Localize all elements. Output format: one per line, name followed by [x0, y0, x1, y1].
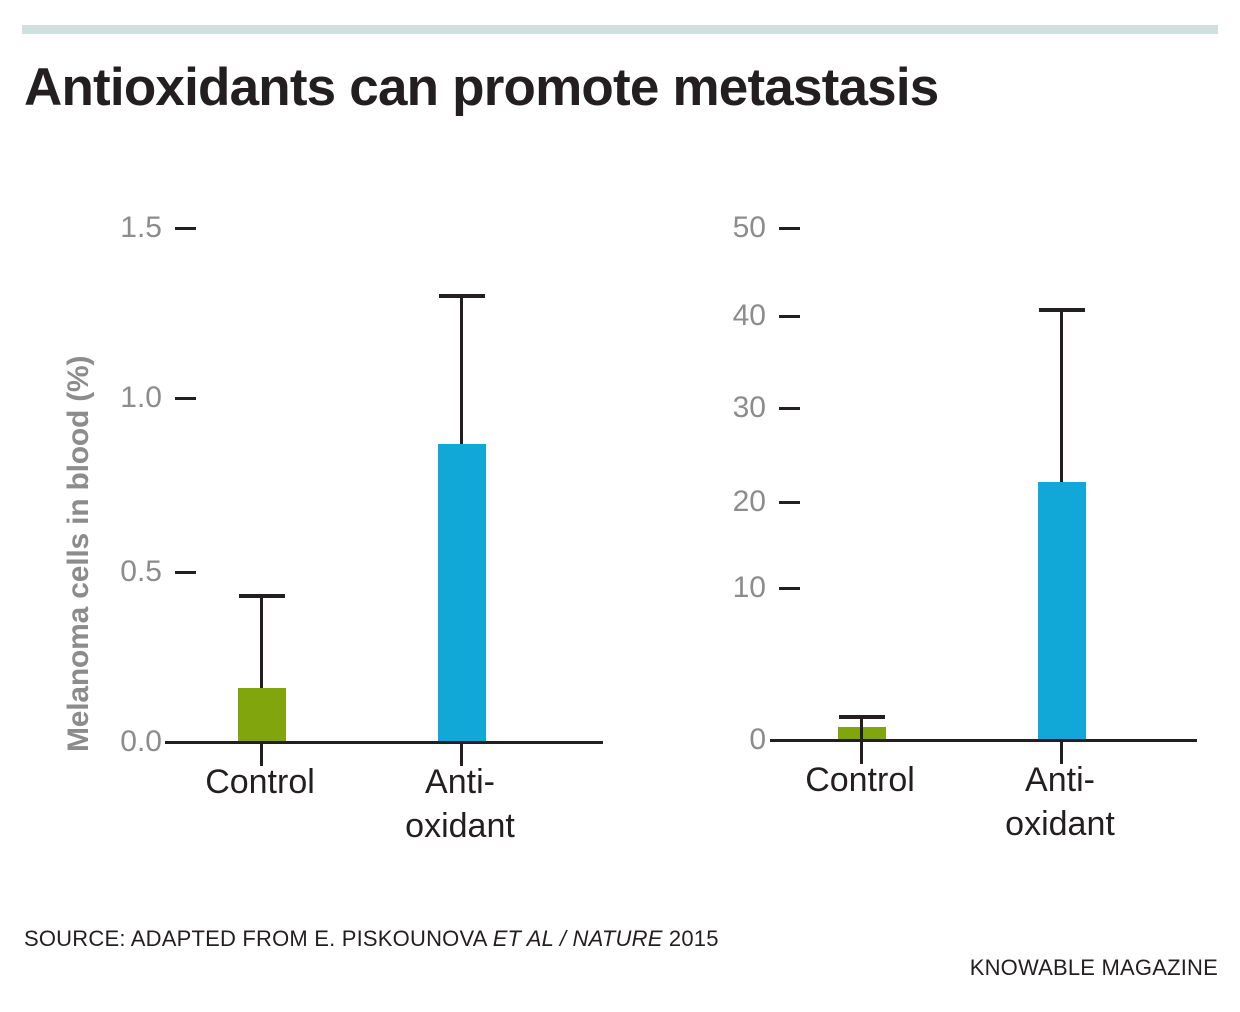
source-et-al: ET AL /	[493, 926, 567, 951]
y-tick-right-40: 40	[690, 296, 800, 336]
y-tick-right-40-dash	[779, 315, 800, 318]
y-tick-right-10: 10	[690, 568, 800, 608]
chart-area: Melanoma cells in blood (%) 1.5 1.0 0.5 …	[0, 0, 1240, 1012]
source-prefix: SOURCE: ADAPTED FROM E. PISKOUNOVA	[24, 926, 493, 951]
x-axis-line-left	[165, 741, 603, 744]
bar-right-antioxidant	[1038, 482, 1086, 739]
y-tick-right-50-label: 50	[733, 211, 766, 245]
y-tick-right-50: 50	[690, 208, 800, 248]
error-bar-right-control-cap	[839, 715, 885, 719]
y-tick-right-20-label: 20	[733, 485, 766, 519]
source-journal: NATURE	[573, 926, 663, 951]
y-tick-left-1_0-dash	[175, 397, 196, 400]
y-tick-right-30-dash	[779, 407, 800, 410]
y-tick-right-40-label: 40	[733, 299, 766, 333]
x-label-left-control: Control	[180, 761, 340, 805]
x-label-left-antioxidant-line2: oxidant	[380, 805, 540, 849]
x-label-left-antioxidant: Anti- oxidant	[380, 761, 540, 848]
y-tick-left-0_5: 0.5	[86, 552, 196, 592]
chart-panel-left: Melanoma cells in blood (%) 1.5 1.0 0.5 …	[0, 0, 640, 1012]
y-tick-left-0_5-dash	[175, 571, 196, 574]
error-bar-left-antioxidant-cap	[439, 294, 485, 298]
x-label-right-antioxidant: Anti- oxidant	[980, 759, 1140, 846]
error-bar-left-control-stem	[260, 596, 263, 688]
y-tick-right-10-dash	[779, 587, 800, 590]
publisher-credit: KNOWABLE MAGAZINE	[970, 955, 1218, 981]
y-tick-right-30: 30	[690, 388, 800, 428]
y-tick-right-20: 20	[690, 482, 800, 522]
error-bar-left-antioxidant-stem	[460, 296, 463, 444]
x-label-right-control: Control	[780, 759, 940, 803]
source-note: SOURCE: ADAPTED FROM E. PISKOUNOVA ET AL…	[24, 922, 784, 956]
x-label-right-antioxidant-line1: Anti-	[980, 759, 1140, 803]
y-tick-right-30-label: 30	[733, 391, 766, 425]
y-tick-left-1_5-label: 1.5	[120, 211, 162, 245]
bar-left-antioxidant	[438, 444, 486, 741]
y-tick-left-1_0-label: 1.0	[120, 381, 162, 415]
y-tick-left-1_0: 1.0	[86, 378, 196, 418]
y-tick-left-0_5-label: 0.5	[120, 555, 162, 589]
y-tick-left-0_0-label: 0.0	[120, 725, 162, 759]
x-label-left-antioxidant-line1: Anti-	[380, 761, 540, 805]
y-tick-left-1_5: 1.5	[86, 208, 196, 248]
y-tick-right-50-dash	[779, 227, 800, 230]
y-tick-right-10-label: 10	[733, 571, 766, 605]
bar-left-control	[238, 688, 286, 741]
source-year: 2015	[663, 926, 719, 951]
error-bar-right-antioxidant-cap	[1039, 308, 1085, 312]
y-tick-right-20-dash	[779, 501, 800, 504]
x-label-right-antioxidant-line2: oxidant	[980, 803, 1140, 847]
error-bar-right-antioxidant-stem	[1060, 310, 1063, 482]
y-tick-left-1_5-dash	[175, 227, 196, 230]
error-bar-left-control-cap	[239, 594, 285, 598]
chart-panel-right: Metastatic burden 50 40 30 20 10 0	[620, 0, 1240, 1012]
y-tick-right-0-label: 0	[749, 723, 766, 757]
x-axis-line-right	[770, 739, 1197, 742]
